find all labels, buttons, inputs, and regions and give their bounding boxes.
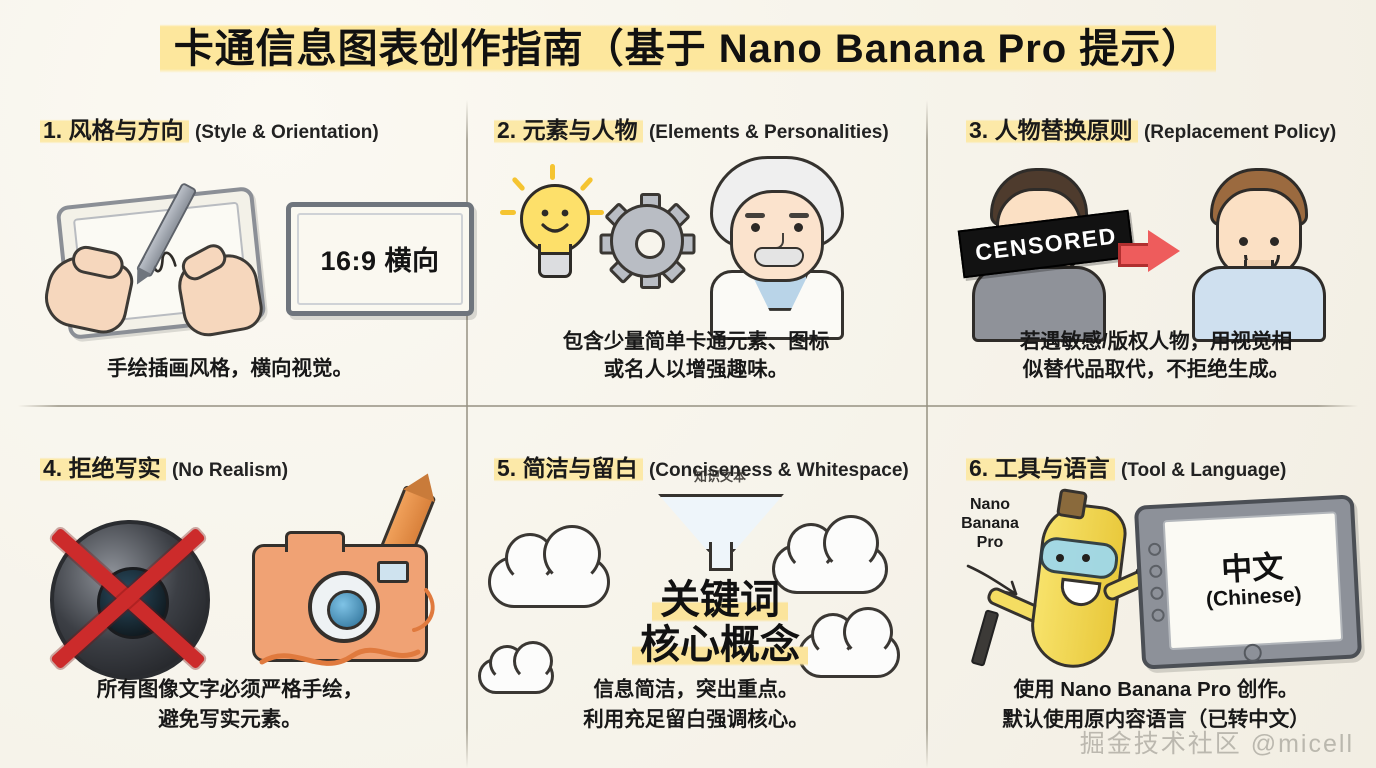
cell-4-artwork — [16, 482, 444, 672]
replacement-person-icon — [1186, 168, 1326, 334]
cell-3-title-en: (Replacement Policy) — [1144, 122, 1336, 143]
cell-3-heading: 3. 人物替换原则 (Replacement Policy) — [942, 118, 1370, 144]
tablet-home-button — [1243, 643, 1262, 662]
lightbulb-base — [538, 252, 572, 278]
lightbulb-icon — [506, 170, 598, 280]
keyword-line-2: 核心概念 — [632, 623, 808, 668]
cell-5-title-zh: 简洁与留白 — [523, 455, 638, 481]
tablet-chinese-screen: 中文 (Chinese) — [1163, 511, 1344, 650]
cell-3-caption-line2: 似替代品取代，不拒绝生成。 — [926, 356, 1376, 383]
cell-1-style-orientation: 1. 风格与方向 (Style & Orientation) 1 — [0, 100, 460, 434]
cell-5-number: 5. — [497, 455, 516, 481]
cell-6-tool-language: 6. 工具与语言 (Tool & Language) Nano Banana P… — [926, 434, 1376, 768]
camera-flash — [377, 561, 409, 583]
cell-6-artwork: Nano Banana Pro — [942, 482, 1370, 672]
cell-1-number: 1. — [43, 117, 62, 143]
infographic-grid: 1. 风格与方向 (Style & Orientation) 1 — [0, 100, 1376, 768]
title-area: 卡通信息图表创作指南（基于 Nano Banana Pro 提示） — [0, 14, 1376, 78]
einstein-portrait-icon — [696, 152, 856, 332]
keyword-line-1: 关键词 — [652, 578, 788, 623]
cell-5-caption-line1: 信息简洁，突出重点。 — [466, 676, 926, 703]
cell-2-title-zh: 元素与人物 — [523, 117, 638, 143]
cell-3-number: 3. — [969, 117, 988, 143]
censored-bar: CENSORED — [958, 210, 1135, 279]
tablet-screen-en: (Chinese) — [1205, 583, 1302, 612]
cell-4-heading: 4. 拒绝写实 (No Realism) — [16, 456, 444, 482]
gear-icon — [610, 204, 684, 278]
cell-6-heading: 6. 工具与语言 (Tool & Language) — [942, 456, 1370, 482]
watermark: 掘金技术社区 @micell — [1080, 724, 1354, 760]
lightbulb-face-icon — [523, 187, 587, 251]
camera-viewfinder — [285, 531, 345, 552]
tablet-side-buttons — [1148, 543, 1161, 619]
cell-6-number: 6. — [969, 455, 988, 481]
red-x-cross-icon — [30, 500, 226, 696]
aspect-ratio-card: 16:9 横向 — [286, 202, 474, 316]
cell-4-title-en: (No Realism) — [172, 460, 288, 481]
cell-2-caption-line1: 包含少量简单卡通元素、图标 — [466, 328, 926, 355]
cell-2-number: 2. — [497, 117, 516, 143]
cell-2-title-en: (Elements & Personalities) — [649, 122, 889, 143]
tablet-drawing-illustration — [62, 196, 277, 336]
cell-2-elements-personalities: 2. 元素与人物 (Elements & Personalities) — [466, 100, 926, 434]
crayon-squiggle-icon — [254, 586, 444, 676]
cell-2-artwork — [482, 144, 910, 334]
censored-label: CENSORED — [974, 222, 1119, 266]
cell-1-title-en: (Style & Orientation) — [195, 122, 379, 143]
cell-3-caption-line1: 若遇敏感/版权人物，用视觉相 — [926, 328, 1376, 355]
page-title: 卡通信息图表创作指南（基于 Nano Banana Pro 提示） — [160, 14, 1217, 78]
cell-4-caption-line2: 避免写实元素。 — [0, 706, 460, 733]
cell-4-caption-line1: 所有图像文字必须严格手绘， — [0, 676, 460, 703]
banana-stem — [1056, 488, 1088, 520]
tablet-chinese-icon: 中文 (Chinese) — [1134, 494, 1362, 669]
cell-1-caption: 手绘插画风格，横向视觉。 — [0, 355, 460, 382]
einstein-face — [730, 190, 824, 282]
cell-1-artwork: 16:9 横向 — [16, 144, 444, 334]
cell-4-title-zh: 拒绝写实 — [69, 455, 161, 481]
funnel-scrawl-label: 知识文本 — [668, 466, 772, 496]
funnel-stem — [709, 542, 733, 571]
cell-3-replacement-policy: 3. 人物替换原则 (Replacement Policy) CENSORED — [926, 100, 1376, 434]
cell-3-artwork: CENSORED — [942, 144, 1370, 334]
banana-mascot-icon — [1020, 492, 1132, 668]
aspect-ratio-label: 16:9 横向 — [320, 239, 439, 278]
cell-3-title-zh: 人物替换原则 — [995, 117, 1133, 143]
tablet-screen-zh: 中文 — [1220, 551, 1284, 585]
cell-4-number: 4. — [43, 455, 62, 481]
gear-hole — [635, 229, 665, 259]
funnel-icon: 知识文本 — [658, 478, 778, 570]
keyword-block: 关键词 核心概念 — [570, 578, 870, 668]
cell-6-title-en: (Tool & Language) — [1121, 460, 1286, 481]
cell-6-caption-line1: 使用 Nano Banana Pro 创作。 — [926, 676, 1376, 703]
cell-4-no-realism: 4. 拒绝写实 (No Realism) 所有图像文字必须严格手绘， 避免写实元… — [0, 434, 460, 768]
cell-1-heading: 1. 风格与方向 (Style & Orientation) — [16, 118, 444, 144]
einstein-moustache — [754, 247, 804, 267]
cell-6-title-zh: 工具与语言 — [995, 455, 1110, 481]
censored-person-icon: CENSORED — [966, 168, 1106, 334]
cell-5-artwork: 知识文本 关键词 核心概念 — [482, 482, 910, 672]
banana-pen-left — [971, 609, 1000, 667]
cell-1-title-zh: 风格与方向 — [69, 117, 184, 143]
replacement-arrow-icon — [1118, 232, 1180, 272]
cell-2-heading: 2. 元素与人物 (Elements & Personalities) — [482, 118, 910, 144]
cell-2-caption-line2: 或名人以增强趣味。 — [466, 356, 926, 383]
cell-5-conciseness-whitespace: 5. 简洁与留白 (Conciseness & Whitespace) 知识文本… — [466, 434, 926, 768]
cell-5-caption-line2: 利用充足留白强调核心。 — [466, 706, 926, 733]
